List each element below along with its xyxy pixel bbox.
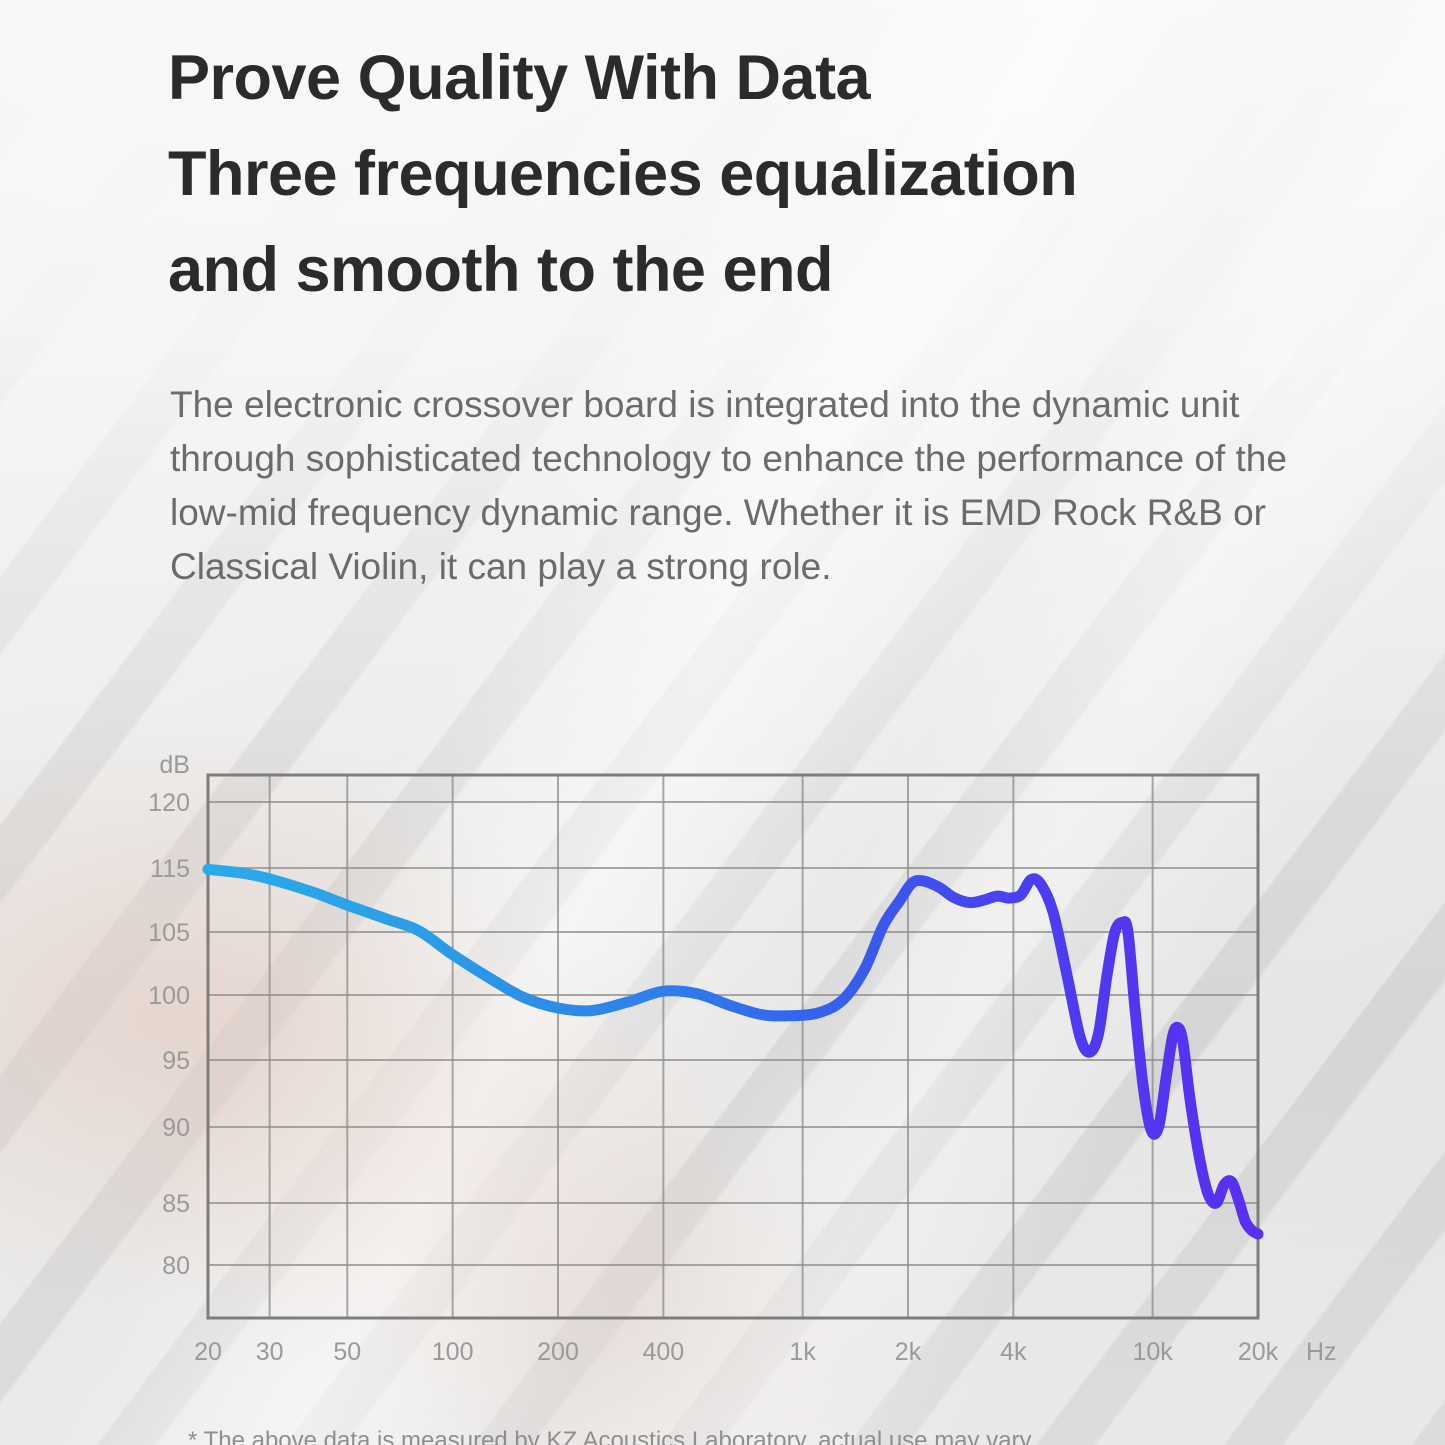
y-axis-tick-label: 90 <box>162 1114 190 1142</box>
x-axis-tick-label: 10k <box>1132 1338 1173 1366</box>
chart-footnote: * The above data is measured by KZ Acous… <box>188 1424 1338 1445</box>
x-axis-tick-labels: 2030501002004001k2k4k10k20k <box>194 1338 1279 1366</box>
x-axis-tick-label: 4k <box>1000 1338 1027 1366</box>
y-axis-tick-label: 85 <box>162 1190 190 1218</box>
x-axis-tick-label: 20k <box>1238 1338 1279 1366</box>
y-axis-tick-label: 115 <box>150 855 190 883</box>
chart-gridlines <box>208 775 1258 1318</box>
x-axis-unit-label: Hz <box>1306 1338 1337 1366</box>
x-axis-tick-label: 2k <box>895 1338 922 1366</box>
x-axis-tick-label: 50 <box>333 1338 361 1366</box>
x-axis-tick-label: 200 <box>537 1338 579 1366</box>
axis-unit-labels: dBHz <box>159 751 1336 1366</box>
page-content: Prove Quality With Data Three frequencie… <box>0 0 1445 1445</box>
chart-frame <box>208 775 1258 1318</box>
y-axis-tick-labels: 12011510510095908580 <box>148 789 190 1280</box>
y-axis-tick-label: 100 <box>148 982 190 1010</box>
plot-area-border <box>208 775 1258 1318</box>
response-curve-path <box>208 869 1258 1234</box>
response-curve <box>208 869 1258 1234</box>
x-axis-tick-label: 20 <box>194 1338 222 1366</box>
y-axis-tick-label: 80 <box>162 1252 190 1280</box>
y-axis-tick-label: 105 <box>148 919 190 947</box>
x-axis-tick-label: 30 <box>256 1338 284 1366</box>
y-axis-tick-label: 120 <box>148 789 190 817</box>
description-paragraph: The electronic crossover board is integr… <box>170 378 1290 594</box>
page-title: Prove Quality With Data Three frequencie… <box>168 30 1398 318</box>
x-axis-tick-label: 1k <box>789 1338 816 1366</box>
y-axis-unit-label: dB <box>159 751 190 779</box>
x-axis-tick-label: 100 <box>432 1338 474 1366</box>
y-axis-tick-label: 95 <box>162 1047 190 1075</box>
x-axis-tick-label: 400 <box>643 1338 685 1366</box>
